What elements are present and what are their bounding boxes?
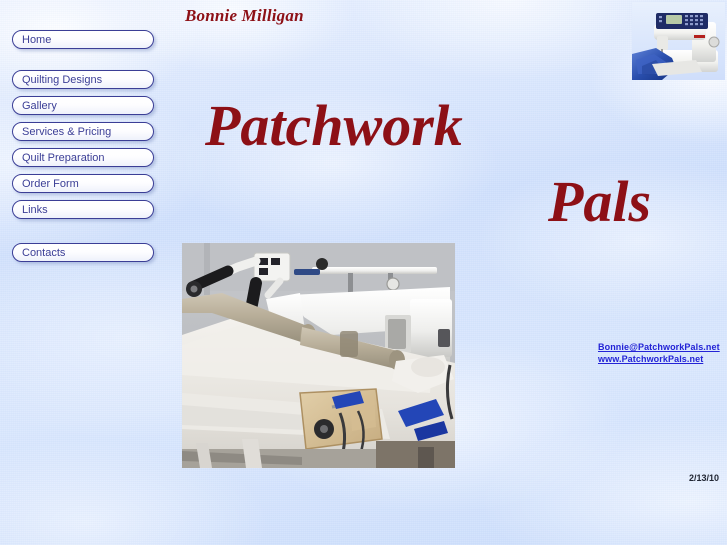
contact-links: Bonnie@PatchworkPals.net www.PatchworkPa… — [598, 341, 720, 365]
nav-item-quilting-designs[interactable]: Quilting Designs — [12, 70, 154, 89]
byline-bonnie-milligan: Bonnie Milligan — [185, 6, 304, 26]
sewing-machine-photo — [632, 2, 725, 80]
main-navigation: Home Quilting Designs Gallery Services &… — [12, 30, 154, 269]
nav-item-order-form[interactable]: Order Form — [12, 174, 154, 193]
email-link[interactable]: Bonnie@PatchworkPals.net — [598, 341, 720, 353]
page-title-line-2: Pals — [548, 173, 651, 231]
last-updated-date: 2/13/10 — [689, 473, 719, 483]
nav-item-contacts[interactable]: Contacts — [12, 243, 154, 262]
page-root: Home Quilting Designs Gallery Services &… — [0, 0, 727, 545]
page-title-line-1: Patchwork — [205, 97, 463, 155]
website-link[interactable]: www.PatchworkPals.net — [598, 353, 720, 365]
nav-item-home[interactable]: Home — [12, 30, 154, 49]
nav-item-services-pricing[interactable]: Services & Pricing — [12, 122, 154, 141]
nav-item-gallery[interactable]: Gallery — [12, 96, 154, 115]
nav-item-links[interactable]: Links — [12, 200, 154, 219]
nav-item-quilt-preparation[interactable]: Quilt Preparation — [12, 148, 154, 167]
longarm-quilting-machine-photo — [182, 243, 455, 468]
